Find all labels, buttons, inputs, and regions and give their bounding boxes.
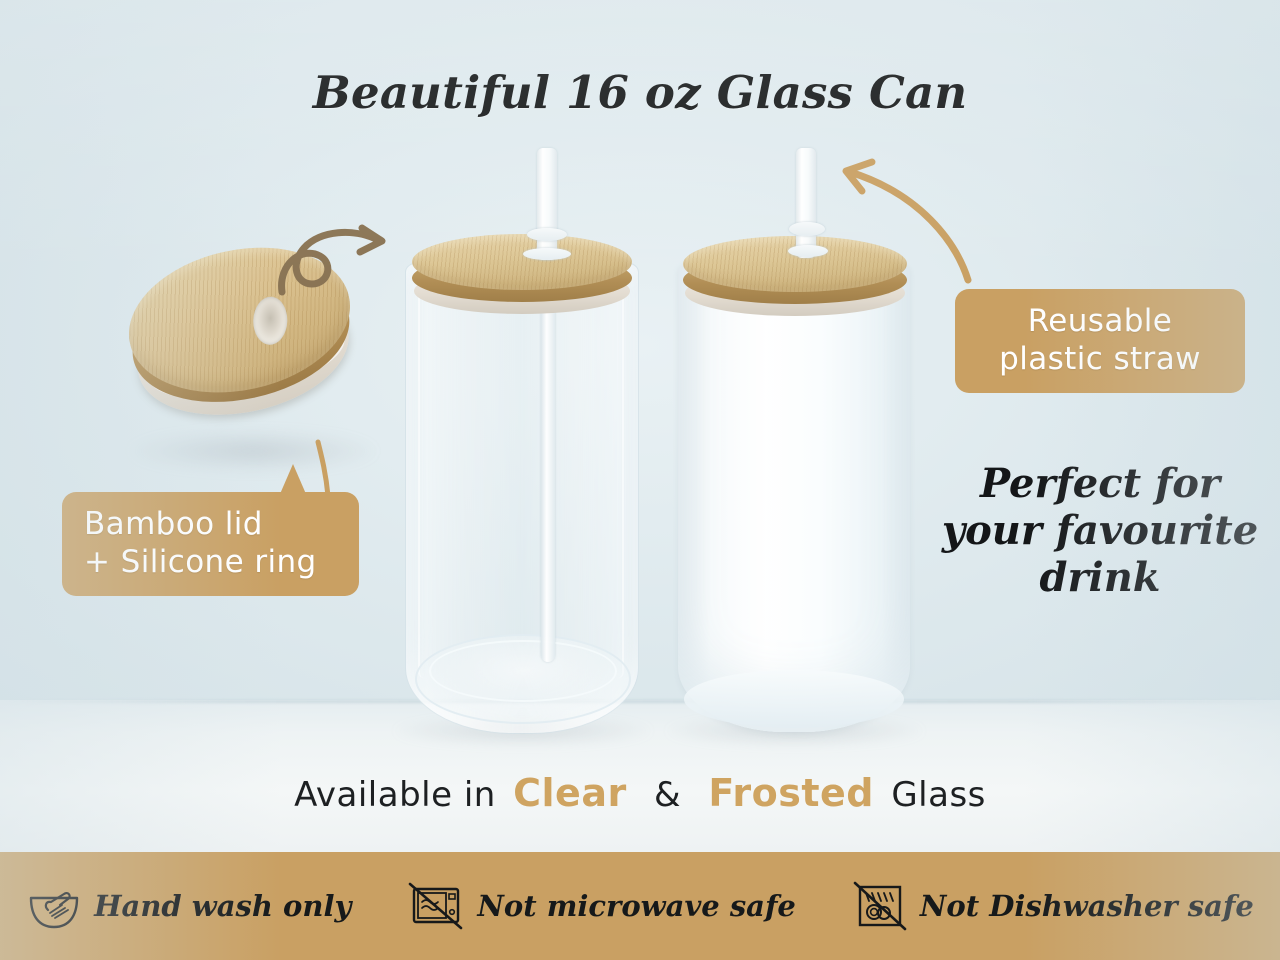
availability-option-clear: Clear xyxy=(513,771,627,815)
care-label-no-microwave: Not microwave safe xyxy=(477,889,796,923)
tagline-line2: your favourite xyxy=(940,507,1260,554)
curved-arrow-to-straw-icon xyxy=(828,158,983,288)
callout-reusable-plastic-straw[interactable]: Reusable plastic straw xyxy=(955,289,1245,393)
straw-inside-clear-can xyxy=(541,262,555,662)
page-title: Beautiful 16 oz Glass Can xyxy=(0,66,1280,119)
care-label-no-dishwasher: Not Dishwasher safe xyxy=(920,889,1254,923)
clear-can-inner-wall xyxy=(418,276,624,678)
callout-straw-line2: plastic straw xyxy=(977,341,1223,379)
availability-option-frosted: Frosted xyxy=(708,771,874,815)
tagline-block: Perfect for your favourite drink xyxy=(940,460,1260,602)
no-microwave-icon xyxy=(407,880,465,932)
clear-can-straw xyxy=(537,148,557,260)
availability-suffix: Glass xyxy=(891,775,986,815)
tagline-line3: drink xyxy=(940,554,1260,601)
frosted-straw-collar-lower xyxy=(788,245,828,257)
product-infographic: Beautiful 16 oz Glass Can xyxy=(0,0,1280,960)
availability-separator: & xyxy=(654,775,681,815)
callout-bamboo-lid-tail xyxy=(280,464,306,494)
clear-glass-can xyxy=(405,262,637,732)
hand-wash-icon xyxy=(26,880,82,932)
no-dishwasher-icon xyxy=(852,880,908,932)
table-edge-line xyxy=(0,700,1280,703)
frosted-glass-can xyxy=(678,262,910,732)
clear-can-lid-top xyxy=(412,234,632,290)
tagline-line1: Perfect for xyxy=(940,460,1260,507)
curly-arrow-icon xyxy=(276,206,406,296)
clear-can-bamboo-lid xyxy=(412,234,632,304)
clear-straw-collar-lower xyxy=(523,248,571,260)
frosted-straw-collar-upper xyxy=(789,222,825,236)
callout-lid-line1: Bamboo lid xyxy=(84,506,337,544)
care-item-no-dishwasher: Not Dishwasher safe xyxy=(852,880,1254,932)
care-item-hand-wash: Hand wash only xyxy=(26,880,351,932)
frosted-can-straw xyxy=(796,148,816,258)
care-instructions-bar: Hand wash only Not microwave safe xyxy=(0,852,1280,960)
care-item-no-microwave: Not microwave safe xyxy=(407,880,796,932)
callout-lid-line2: + Silicone ring xyxy=(84,544,337,582)
clear-straw-collar-upper xyxy=(527,228,567,241)
callout-straw-line1: Reusable xyxy=(977,303,1223,341)
availability-prefix: Available in xyxy=(294,775,496,815)
availability-line: Available in Clear & Frosted Glass xyxy=(0,771,1280,815)
callout-bamboo-lid[interactable]: Bamboo lid + Silicone ring xyxy=(62,492,359,596)
frosted-can-body xyxy=(678,262,910,732)
care-label-hand-wash: Hand wash only xyxy=(94,889,351,923)
clear-can-base-inner xyxy=(429,640,617,702)
frosted-can-base xyxy=(684,670,904,728)
